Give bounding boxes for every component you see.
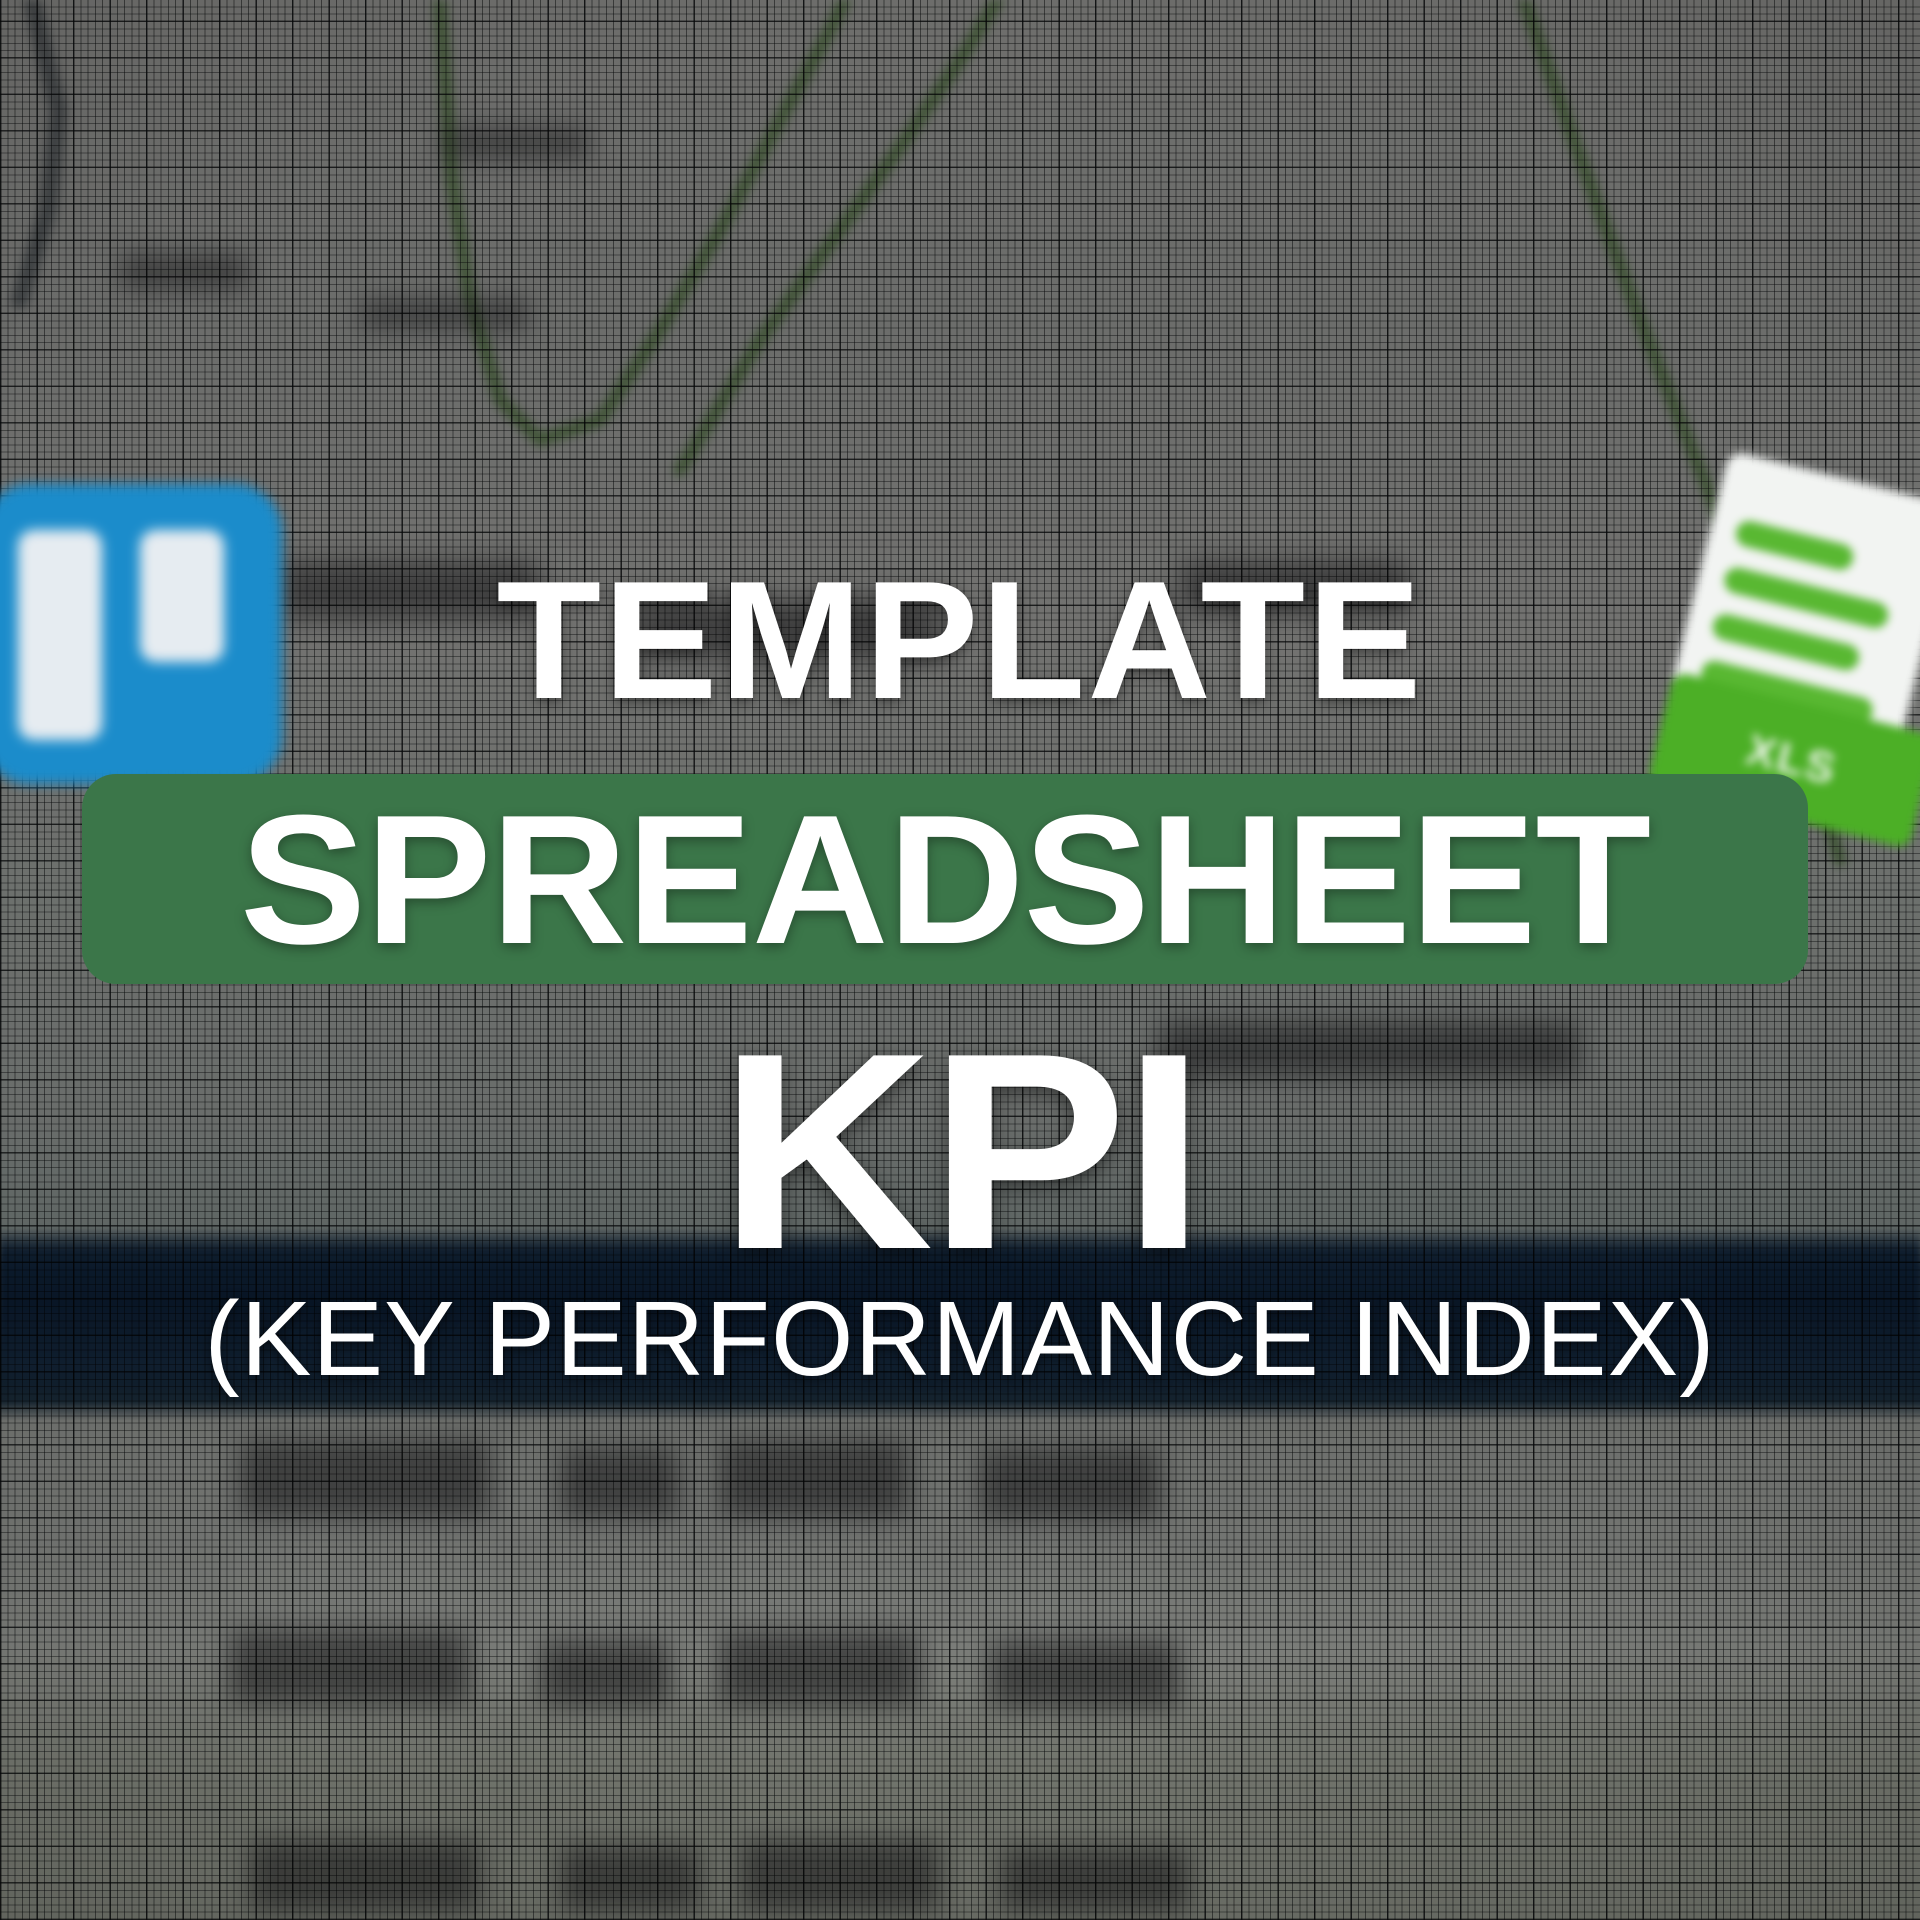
headline-subtitle: (KEY PERFORMANCE INDEX) xyxy=(0,1286,1920,1392)
poster-canvas: XLS TEMPLATE SPREADSHEET KPI (KEY PERFOR… xyxy=(0,0,1920,1920)
headline-group: TEMPLATE SPREADSHEET KPI (KEY PERFORMANC… xyxy=(0,0,1920,1920)
headline-line-template: TEMPLATE xyxy=(0,556,1920,724)
headline-line-kpi: KPI xyxy=(0,1012,1920,1292)
headline-line-spreadsheet: SPREADSHEET xyxy=(56,768,1834,990)
